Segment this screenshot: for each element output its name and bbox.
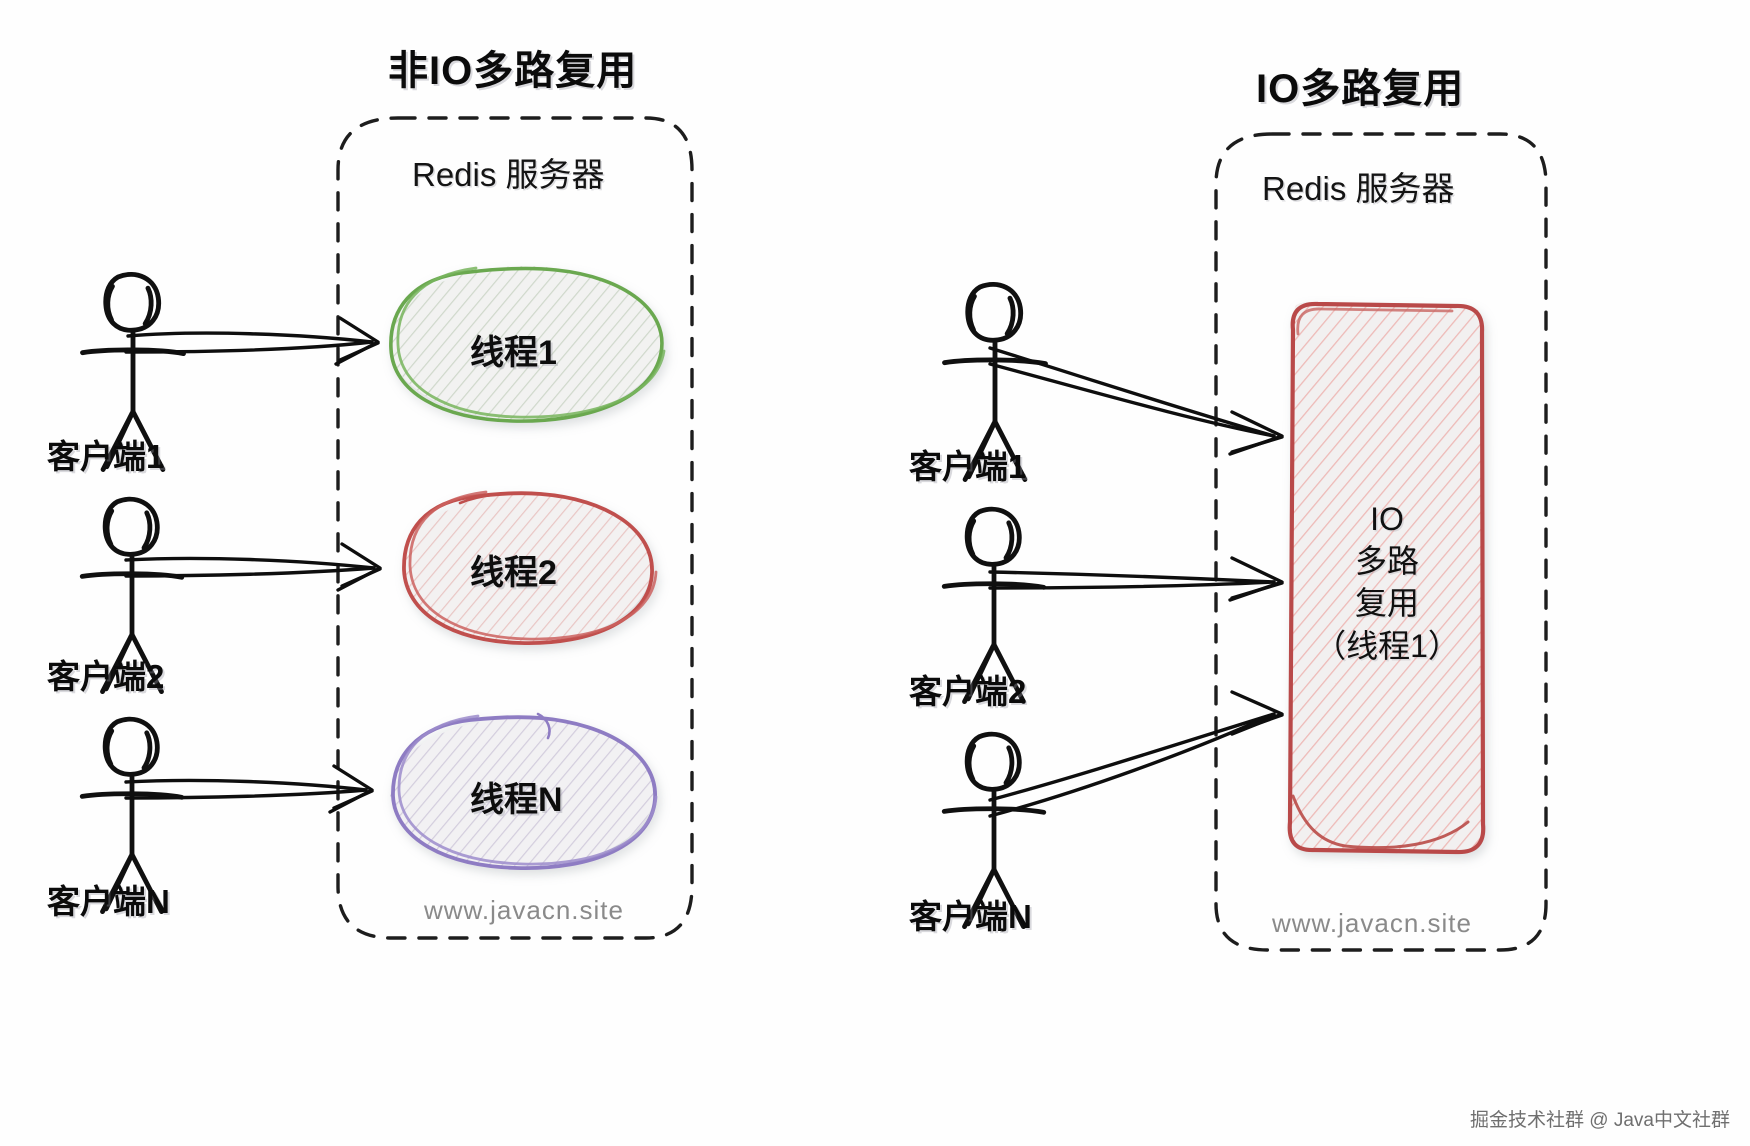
mux-line-1: IO <box>1287 498 1487 540</box>
client-label-right-n: 客户端N <box>909 890 1032 938</box>
thread-label-1: 线程1 <box>470 325 557 374</box>
arrow-left-1 <box>126 318 378 364</box>
panel-title-io-multiplexing: IO多路复用 <box>1256 56 1464 114</box>
diagram-canvas: 非IO多路复用 IO多路复用 Redis 服务器 Redis 服务器 线程1 线… <box>0 0 1750 1146</box>
diagram-artwork <box>0 0 1750 1146</box>
watermark-left: www.javacn.site <box>424 895 624 926</box>
credit-attribution: 掘金技术社群 @ Java中文社群 <box>1470 1105 1730 1132</box>
arrow-right-2 <box>990 558 1282 600</box>
mux-line-3: 复用 <box>1287 582 1487 624</box>
watermark-right: www.javacn.site <box>1272 908 1472 939</box>
client-label-left-n: 客户端N <box>47 875 170 923</box>
arrow-right-3 <box>990 692 1282 816</box>
redis-server-label-right: Redis 服务器 <box>1262 162 1455 210</box>
client-label-left-1: 客户端1 <box>47 430 164 478</box>
mux-line-4: （线程1） <box>1287 625 1487 667</box>
client-label-right-2: 客户端2 <box>909 665 1026 713</box>
panel-title-non-multiplexing: 非IO多路复用 <box>388 38 637 96</box>
client-label-left-2: 客户端2 <box>47 650 164 698</box>
thread-label-2: 线程2 <box>470 545 557 594</box>
thread-label-n: 线程N <box>470 772 563 821</box>
redis-server-label-left: Redis 服务器 <box>412 148 605 196</box>
arrow-left-3 <box>126 766 372 812</box>
arrow-left-2 <box>126 544 380 590</box>
io-multiplexing-box-text: IO 多路 复用 （线程1） <box>1287 498 1487 667</box>
mux-line-2: 多路 <box>1287 540 1487 582</box>
client-label-right-1: 客户端1 <box>909 440 1026 488</box>
